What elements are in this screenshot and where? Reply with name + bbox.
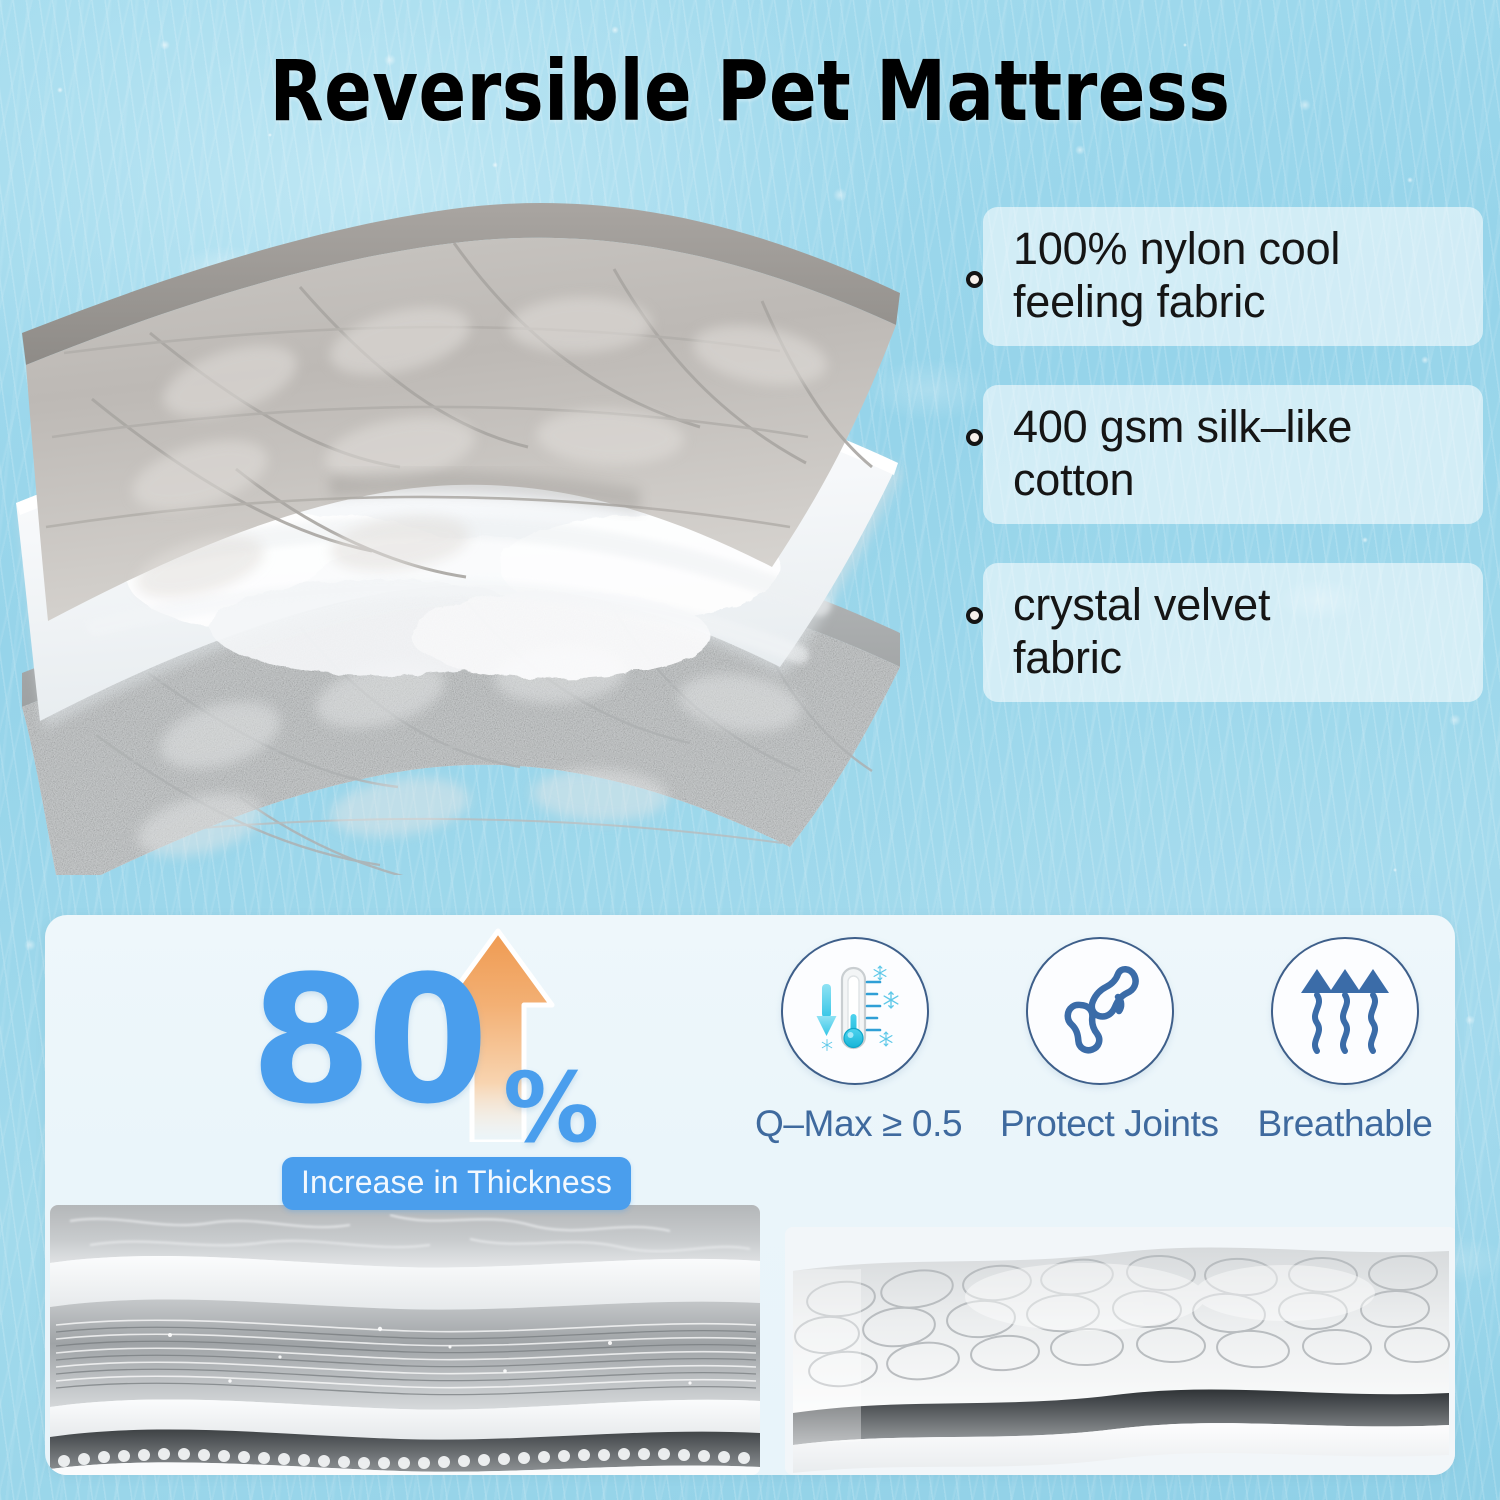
thermometer-scale <box>867 982 880 1030</box>
percent-sign: % <box>503 1060 599 1156</box>
feature-label: Breathable <box>1245 1103 1445 1145</box>
callout-bullet-icon <box>966 271 983 288</box>
callout-bullet-icon <box>966 607 983 624</box>
mattress-cross-section-photo <box>50 1205 760 1475</box>
bone-joint-icon <box>1026 937 1174 1085</box>
callout-bullet-icon <box>966 429 983 446</box>
features-panel: 80 % Increase in Thickness <box>45 915 1455 1475</box>
callout-line-1: 400 gsm silk–like <box>1013 401 1463 454</box>
callout-line-2: fabric <box>1013 632 1463 685</box>
thickness-number: 80 <box>250 953 483 1129</box>
feature-protect-joints[interactable]: Protect Joints <box>1000 937 1200 1145</box>
callout-velvet: crystal velvet fabric <box>983 563 1483 702</box>
fabric-layer-illustration <box>0 175 980 875</box>
callout-line-1: crystal velvet <box>1013 579 1463 632</box>
feature-label: Q–Max ≥ 0.5 <box>755 1103 955 1145</box>
breathable-waves-icon <box>1271 937 1419 1085</box>
thermometer-snowflake-icon <box>781 937 929 1085</box>
callout-line-1: 100% nylon cool <box>1013 223 1463 276</box>
thermometer-body <box>842 968 865 1048</box>
feature-qmax[interactable]: Q–Max ≥ 0.5 <box>755 937 955 1145</box>
callout-line-2: cotton <box>1013 454 1463 507</box>
callout-cotton: 400 gsm silk–like cotton <box>983 385 1483 524</box>
feature-breathable[interactable]: Breathable <box>1245 937 1445 1145</box>
callout-nylon: 100% nylon cool feeling fabric <box>983 207 1483 346</box>
page-title: Reversible Pet Mattress <box>53 42 1448 140</box>
thickness-caption-pill: Increase in Thickness <box>282 1157 631 1210</box>
thickness-badge: 80 % Increase in Thickness <box>250 935 630 1185</box>
airflow-waves <box>1315 995 1375 1051</box>
airflow-arrowheads <box>1301 969 1389 993</box>
quilted-mattress-edge-photo <box>785 1227 1455 1475</box>
feature-label: Protect Joints <box>1000 1103 1200 1145</box>
callout-line-2: feeling fabric <box>1013 276 1463 329</box>
temperature-down-arrow <box>817 984 837 1036</box>
